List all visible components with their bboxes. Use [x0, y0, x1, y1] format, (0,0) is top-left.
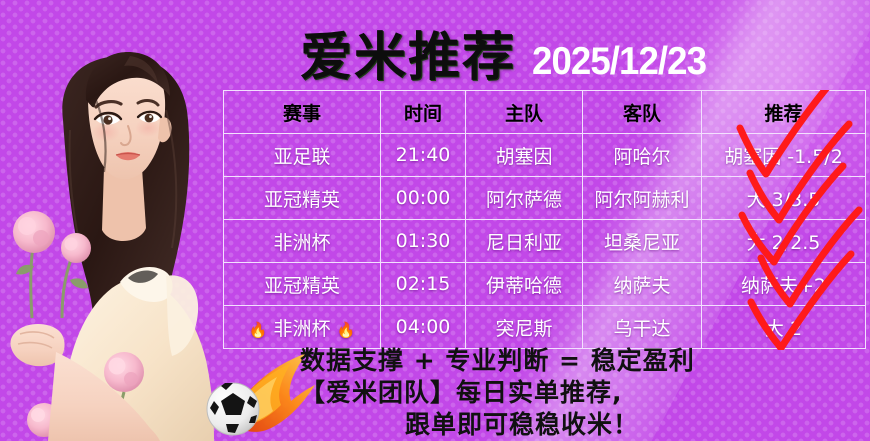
table-header-row: 赛事 时间 主队 客队 推荐 — [224, 91, 866, 134]
event-label: 非洲杯 — [273, 318, 330, 340]
cell-tip: 大 3/3.5 — [702, 177, 866, 220]
cell-tip: 大 2 — [702, 306, 866, 349]
cell-away: 阿尔阿赫利 — [583, 177, 702, 220]
fire-icon: 🔥 — [249, 321, 268, 339]
column-header-event: 赛事 — [224, 91, 381, 134]
cell-time: 02:15 — [381, 263, 466, 306]
column-header-away: 客队 — [583, 91, 702, 134]
event-label: 非洲杯 — [273, 232, 330, 254]
cell-time: 01:30 — [381, 220, 466, 263]
cell-event: 亚冠精英 — [224, 177, 381, 220]
table-row: 亚冠精英 00:00 阿尔萨德 阿尔阿赫利 大 3/3.5 — [224, 177, 866, 220]
column-header-time: 时间 — [381, 91, 466, 134]
cell-away: 乌干达 — [583, 306, 702, 349]
event-label: 亚冠精英 — [264, 275, 340, 297]
event-label: 亚足联 — [273, 146, 330, 168]
table-row: 亚冠精英 02:15 伊蒂哈德 纳萨夫 纳萨夫+2 — [224, 263, 866, 306]
column-header-home: 主队 — [466, 91, 583, 134]
cell-home: 突尼斯 — [466, 306, 583, 349]
cell-time: 21:40 — [381, 134, 466, 177]
cell-away: 纳萨夫 — [583, 263, 702, 306]
flaming-soccer-ball-icon — [195, 345, 315, 441]
slogan-line-2: 【爱米团队】每日实单推荐, — [300, 377, 860, 409]
cell-time: 04:00 — [381, 306, 466, 349]
cell-event: 亚足联 — [224, 134, 381, 177]
promo-poster: 爱米推荐 2025/12/23 赛事 时间 主队 客队 推荐 亚足联 21:40… — [0, 0, 870, 441]
cell-time: 00:00 — [381, 177, 466, 220]
table-row: 非洲杯 01:30 尼日利亚 坦桑尼亚 大 2/2.5 — [224, 220, 866, 263]
cell-tip: 纳萨夫+2 — [702, 263, 866, 306]
cell-event: 非洲杯 — [224, 220, 381, 263]
cell-event: 亚冠精英 — [224, 263, 381, 306]
cell-away: 坦桑尼亚 — [583, 220, 702, 263]
cell-tip: 大 2/2.5 — [702, 220, 866, 263]
slogan-block: 数据支撑 + 专业判断 = 稳定盈利 【爱米团队】每日实单推荐, 跟单即可稳稳收… — [300, 345, 860, 441]
portrait-woman-image — [0, 0, 235, 441]
column-header-tip: 推荐 — [702, 91, 866, 134]
slogan-line-1: 数据支撑 + 专业判断 = 稳定盈利 — [300, 345, 860, 377]
table-row: 亚足联 21:40 胡塞因 阿哈尔 胡塞因 -1.5/2 — [224, 134, 866, 177]
predictions-table: 赛事 时间 主队 客队 推荐 亚足联 21:40 胡塞因 阿哈尔 胡塞因 -1.… — [223, 90, 866, 349]
cell-event: 🔥 非洲杯 🔥 — [224, 306, 381, 349]
fire-icon: 🔥 — [337, 321, 356, 339]
cell-away: 阿哈尔 — [583, 134, 702, 177]
slogan-line-3: 跟单即可稳稳收米！ — [300, 409, 860, 441]
cell-home: 伊蒂哈德 — [466, 263, 583, 306]
title-row: 爱米推荐 2025/12/23 — [300, 12, 860, 84]
table-row: 🔥 非洲杯 🔥 04:00 突尼斯 乌干达 大 2 — [224, 306, 866, 349]
cell-tip: 胡塞因 -1.5/2 — [702, 134, 866, 177]
date-label: 2025/12/23 — [532, 42, 706, 84]
cell-home: 胡塞因 — [466, 134, 583, 177]
cell-home: 阿尔萨德 — [466, 177, 583, 220]
page-title: 爱米推荐 — [300, 32, 516, 84]
event-label: 亚冠精英 — [264, 189, 340, 211]
cell-home: 尼日利亚 — [466, 220, 583, 263]
